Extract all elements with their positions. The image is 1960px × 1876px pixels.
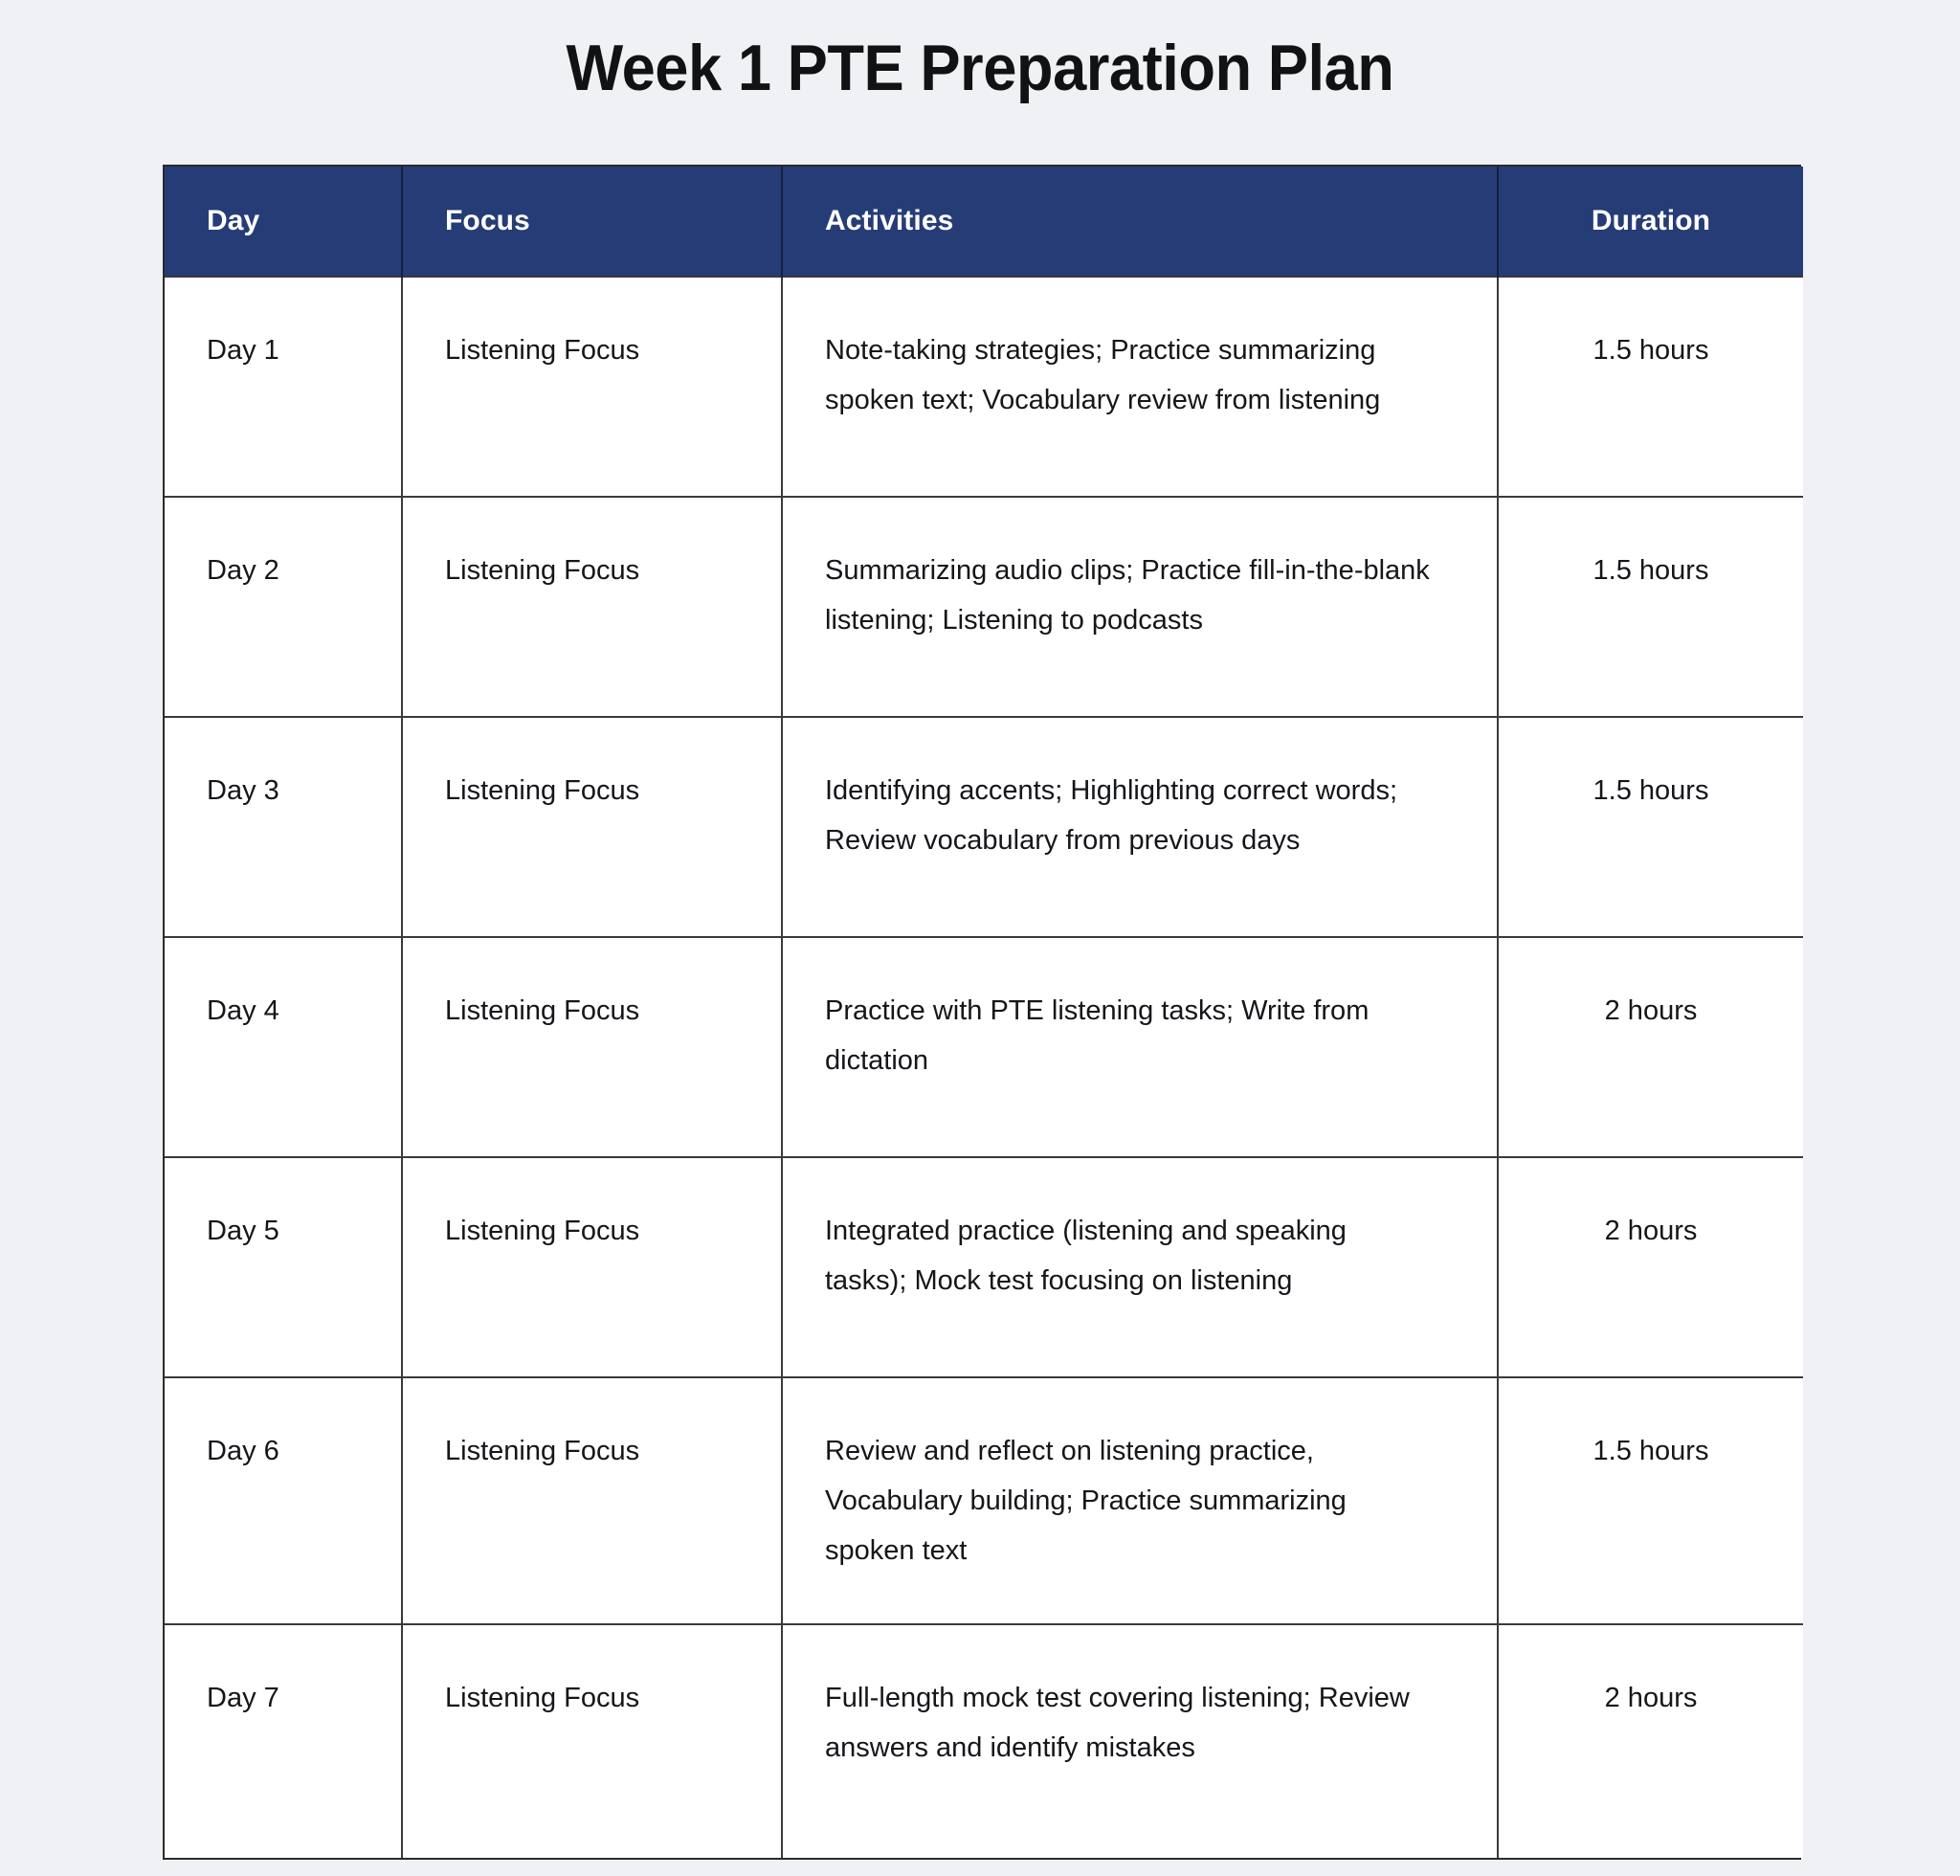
cell-day: Day 5 <box>165 1157 402 1377</box>
cell-day: Day 2 <box>165 497 402 717</box>
cell-activities: Summarizing audio clips; Practice fill-i… <box>782 497 1498 717</box>
cell-focus: Listening Focus <box>402 497 782 717</box>
cell-duration: 2 hours <box>1498 1624 1803 1858</box>
cell-focus: Listening Focus <box>402 717 782 937</box>
table-row: Day 4 Listening Focus Practice with PTE … <box>165 937 1803 1157</box>
table-header-row: Day Focus Activities Duration <box>165 167 1803 277</box>
cell-activities: Identifying accents; Highlighting correc… <box>782 717 1498 937</box>
table-row: Day 7 Listening Focus Full-length mock t… <box>165 1624 1803 1858</box>
cell-focus: Listening Focus <box>402 937 782 1157</box>
cell-day: Day 6 <box>165 1377 402 1624</box>
plan-table-container: Day Focus Activities Duration Day 1 List… <box>163 165 1801 1860</box>
cell-activities: Full-length mock test covering listening… <box>782 1624 1498 1858</box>
column-header-day: Day <box>165 167 402 277</box>
column-header-duration: Duration <box>1498 167 1803 277</box>
table-row: Day 5 Listening Focus Integrated practic… <box>165 1157 1803 1377</box>
week-plan-table: Day Focus Activities Duration Day 1 List… <box>165 167 1803 1858</box>
cell-activities: Note-taking strategies; Practice summari… <box>782 277 1498 497</box>
cell-day: Day 3 <box>165 717 402 937</box>
cell-day: Day 1 <box>165 277 402 497</box>
table-row: Day 2 Listening Focus Summarizing audio … <box>165 497 1803 717</box>
cell-focus: Listening Focus <box>402 1377 782 1624</box>
cell-focus: Listening Focus <box>402 1624 782 1858</box>
cell-day: Day 7 <box>165 1624 402 1858</box>
cell-activities: Integrated practice (listening and speak… <box>782 1157 1498 1377</box>
cell-focus: Listening Focus <box>402 277 782 497</box>
cell-activities: Practice with PTE listening tasks; Write… <box>782 937 1498 1157</box>
table-header: Day Focus Activities Duration <box>165 167 1803 277</box>
column-header-activities: Activities <box>782 167 1498 277</box>
page-title: Week 1 PTE Preparation Plan <box>69 27 1892 109</box>
cell-duration: 2 hours <box>1498 937 1803 1157</box>
cell-day: Day 4 <box>165 937 402 1157</box>
cell-duration: 1.5 hours <box>1498 277 1803 497</box>
page-root: Week 1 PTE Preparation Plan Day Focus Ac… <box>0 0 1960 1876</box>
table-row: Day 1 Listening Focus Note-taking strate… <box>165 277 1803 497</box>
cell-focus: Listening Focus <box>402 1157 782 1377</box>
table-body: Day 1 Listening Focus Note-taking strate… <box>165 277 1803 1858</box>
cell-duration: 1.5 hours <box>1498 1377 1803 1624</box>
cell-activities: Review and reflect on listening practice… <box>782 1377 1498 1624</box>
cell-duration: 1.5 hours <box>1498 717 1803 937</box>
cell-duration: 1.5 hours <box>1498 497 1803 717</box>
column-header-focus: Focus <box>402 167 782 277</box>
table-row: Day 3 Listening Focus Identifying accent… <box>165 717 1803 937</box>
table-row: Day 6 Listening Focus Review and reflect… <box>165 1377 1803 1624</box>
cell-duration: 2 hours <box>1498 1157 1803 1377</box>
